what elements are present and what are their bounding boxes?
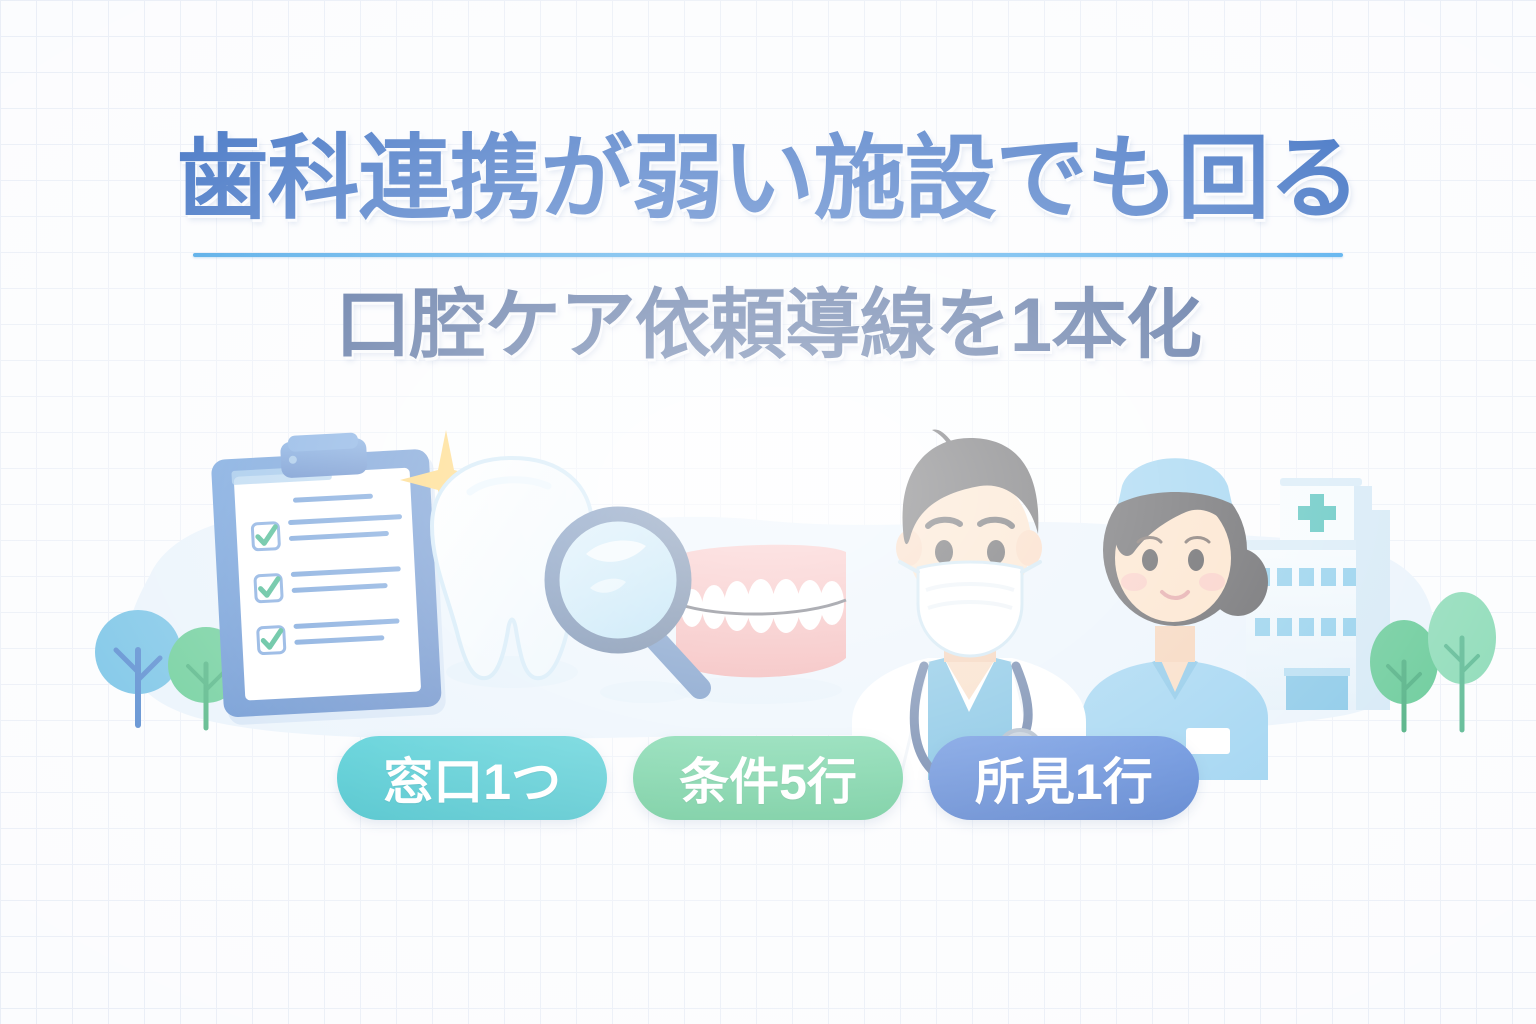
tree-green-right: [1370, 620, 1438, 730]
page-title: 歯科連携が弱い施設でも回る: [0, 128, 1536, 231]
title-divider: [193, 253, 1343, 257]
tree-mint-right: [1428, 592, 1496, 730]
hospital: [1246, 478, 1390, 710]
poster-canvas: 歯科連携が弱い施設でも回る 口腔ケア依頼導線を1本化 窓口1つ 条件5行 所見1…: [0, 0, 1536, 1024]
headline-block: 歯科連携が弱い施設でも回る 口腔ケア依頼導線を1本化: [0, 128, 1536, 368]
badge-madoguchi: 窓口1つ: [337, 736, 607, 820]
clipboard: [210, 428, 447, 725]
badge-jouken: 条件5行: [633, 736, 903, 820]
badge-shoken: 所見1行: [929, 736, 1199, 820]
illustration-band: [0, 400, 1536, 780]
page-subtitle: 口腔ケア依頼導線を1本化: [0, 283, 1536, 368]
badge-row: 窓口1つ 条件5行 所見1行: [0, 736, 1536, 820]
